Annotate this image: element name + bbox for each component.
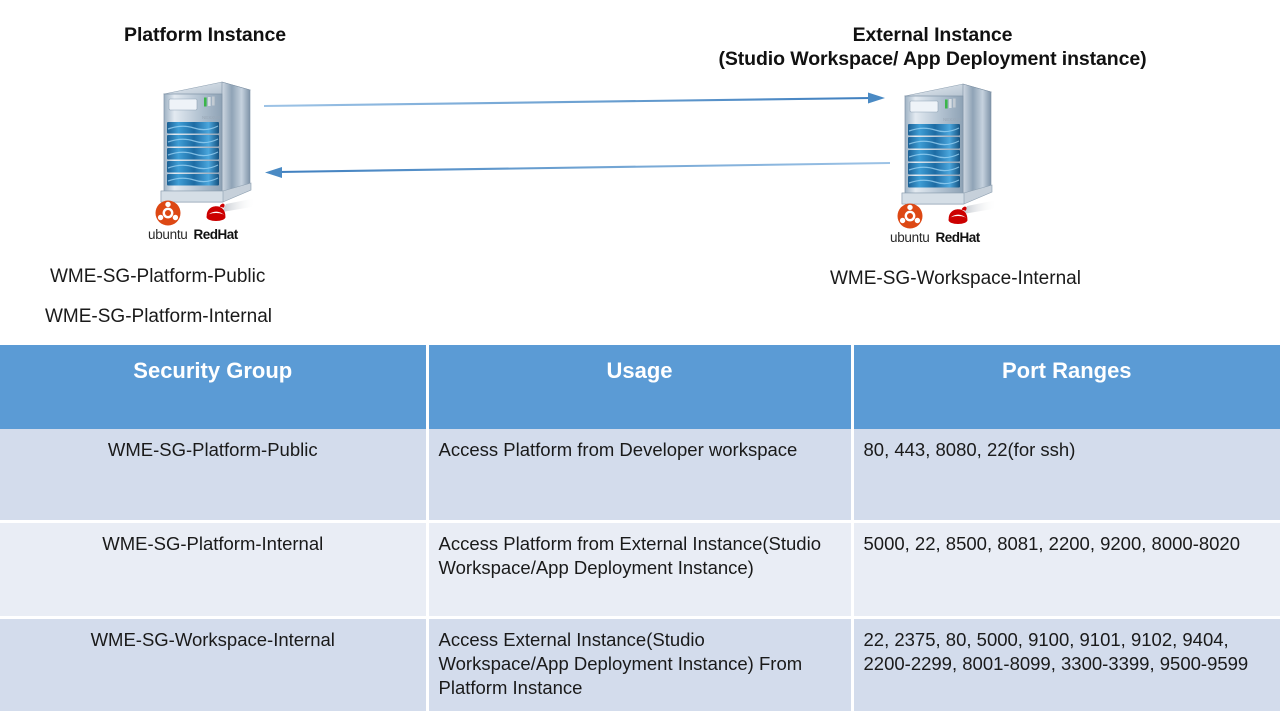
redhat-logo-icon xyxy=(943,203,973,229)
cell-security-group: WME-SG-Platform-Internal xyxy=(0,521,427,617)
cell-port-ranges: 5000, 22, 8500, 8081, 2200, 9200, 8000-8… xyxy=(852,521,1280,617)
cell-usage: Access Platform from External Instance(S… xyxy=(427,521,852,617)
security-groups-table: Security Group Usage Port Ranges WME-SG-… xyxy=(0,345,1280,714)
platform-server-tower-icon: NEXXUS xyxy=(152,76,260,216)
platform-sg-internal-label: WME-SG-Platform-Internal xyxy=(45,306,272,328)
ubuntu-logo-label: ubuntu xyxy=(890,231,930,245)
column-header-security-group: Security Group xyxy=(0,345,427,429)
external-instance-title-line2: (Studio Workspace/ App Deployment instan… xyxy=(640,48,1225,72)
cell-security-group: WME-SG-Platform-Public xyxy=(0,429,427,521)
ubuntu-logo-icon xyxy=(897,203,923,229)
ubuntu-logo-block: ubuntu xyxy=(148,200,188,242)
external-server-tower-icon: NEXXUS xyxy=(893,78,1001,218)
platform-to-external-arrow xyxy=(264,93,885,107)
arrow-right-icon xyxy=(868,93,885,104)
redhat-logo-block: RedHat xyxy=(194,200,238,242)
table-row: WME-SG-Workspace-Internal Access Externa… xyxy=(0,617,1280,712)
table-row: WME-SG-Platform-Public Access Platform f… xyxy=(0,429,1280,521)
cell-port-ranges: 80, 443, 8080, 22(for ssh) xyxy=(852,429,1280,521)
column-header-port-ranges: Port Ranges xyxy=(852,345,1280,429)
redhat-logo-label: RedHat xyxy=(194,228,238,242)
platform-instance-title: Platform Instance xyxy=(60,24,350,48)
external-to-platform-arrow xyxy=(265,163,890,178)
platform-sg-public-label: WME-SG-Platform-Public xyxy=(50,266,265,288)
redhat-logo-label: RedHat xyxy=(936,231,980,245)
column-header-usage: Usage xyxy=(427,345,852,429)
external-instance-title: External Instance (Studio Workspace/ App… xyxy=(640,24,1225,72)
platform-os-logos: ubuntu RedHat xyxy=(148,200,238,242)
table-header-row: Security Group Usage Port Ranges xyxy=(0,345,1280,429)
cell-usage: Access External Instance(Studio Workspac… xyxy=(427,617,852,712)
cell-security-group: WME-SG-Workspace-Internal xyxy=(0,617,427,712)
redhat-logo-block: RedHat xyxy=(936,203,980,245)
svg-text:NEXXUS: NEXXUS xyxy=(202,115,221,120)
ubuntu-logo-block: ubuntu xyxy=(890,203,930,245)
external-os-logos: ubuntu RedHat xyxy=(890,203,980,245)
table-row: WME-SG-Platform-Internal Access Platform… xyxy=(0,521,1280,617)
redhat-logo-icon xyxy=(201,200,231,226)
svg-text:NEXXUS: NEXXUS xyxy=(943,117,962,122)
architecture-diagram: Platform Instance External Instance (Stu… xyxy=(0,0,1280,345)
cell-usage: Access Platform from Developer workspace xyxy=(427,429,852,521)
ubuntu-logo-icon xyxy=(155,200,181,226)
external-instance-title-line1: External Instance xyxy=(640,24,1225,48)
ubuntu-logo-label: ubuntu xyxy=(148,228,188,242)
arrow-left-icon xyxy=(265,167,282,178)
cell-port-ranges: 22, 2375, 80, 5000, 9100, 9101, 9102, 94… xyxy=(852,617,1280,712)
slide-canvas: Platform Instance External Instance (Stu… xyxy=(0,0,1280,720)
workspace-sg-internal-label: WME-SG-Workspace-Internal xyxy=(830,268,1081,290)
